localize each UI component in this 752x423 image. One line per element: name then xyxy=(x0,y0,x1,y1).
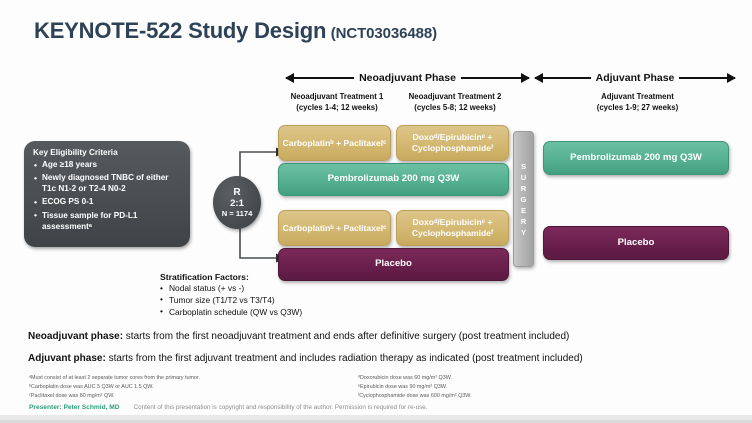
box-label: Carboplatinᵇ + Paclitaxelᶜ xyxy=(283,223,387,234)
caption-neoadjuvant-treatment-2: Neoadjuvant Treatment 2 (cycles 5-8; 12 … xyxy=(396,92,514,113)
footnote-item: ᶠCyclophosphamide dose was 600 mg/m² Q3W… xyxy=(358,392,688,401)
description-value: starts from the first adjuvant treatment… xyxy=(106,353,583,364)
box-label: Pembrolizumab 200 mg Q3W xyxy=(570,152,702,164)
arrow-line-right xyxy=(461,77,529,79)
list-item: Age ≥18 years xyxy=(33,160,182,171)
arrow-line-right xyxy=(679,77,735,79)
list-item: Carboplatin schedule (QW vs Q3W) xyxy=(160,307,302,319)
control-arm-placebo-adjuvant-box: Placebo xyxy=(543,226,729,260)
phase-arrow-row: Neoadjuvant Phase Adjuvant Phase xyxy=(0,70,752,86)
randomization-ratio: 2:1 xyxy=(230,198,244,209)
exp-arm-neoadjuvant-treatment-1-box: Carboplatinᵇ + Paclitaxelᶜ xyxy=(278,125,391,161)
copyright-notice: Content of this presentation is copyrigh… xyxy=(134,404,428,411)
caption-line-1: Adjuvant Treatment xyxy=(545,92,730,103)
arrow-line-left xyxy=(286,77,354,79)
caption-line-1: Neoadjuvant Treatment 2 xyxy=(396,92,514,103)
surgery-letter: Y xyxy=(521,227,526,238)
box-label: Doxoᵈ/Epirubicinᵉ + Cyclophosphamideᶠ xyxy=(397,217,508,239)
eligibility-item-text: Tissue sample for PD-L1 assessmentᵃ xyxy=(42,211,137,231)
description-key: Neoadjuvant phase: xyxy=(28,331,123,342)
caption-neoadjuvant-treatment-1: Neoadjuvant Treatment 1 (cycles 1-4; 12 … xyxy=(278,92,396,113)
arrow-line-left xyxy=(535,77,591,79)
list-item: Tumor size (T1/T2 vs T3/T4) xyxy=(160,295,302,307)
box-label: Carboplatinᵇ + Paclitaxelᶜ xyxy=(283,138,387,149)
caption-adjuvant-treatment: Adjuvant Treatment (cycles 1-9; 27 weeks… xyxy=(545,92,730,113)
surgery-column: S U R G E R Y xyxy=(513,131,534,267)
control-arm-neoadjuvant-treatment-2-box: Doxoᵈ/Epirubicinᵉ + Cyclophosphamideᶠ xyxy=(396,210,509,246)
description-key: Adjuvant phase: xyxy=(28,353,106,364)
exp-arm-neoadjuvant-treatment-2-box: Doxoᵈ/Epirubicinᵉ + Cyclophosphamideᶠ xyxy=(396,125,509,161)
surgery-letter: R xyxy=(521,216,526,227)
presenter-bar: Presenter: Peter Schmid, MD Content of t… xyxy=(29,404,428,411)
box-label: Pembrolizumab 200 mg Q3W xyxy=(328,173,460,185)
randomization-n: N = 1174 xyxy=(222,210,253,219)
footnotes-right-column: ᵈDoxorubicin dose was 60 mg/m² Q3W. ᵉEpi… xyxy=(358,374,688,400)
control-arm-neoadjuvant-treatment-1-box: Carboplatinᵇ + Paclitaxelᶜ xyxy=(278,210,391,246)
eligibility-list: Age ≥18 years Newly diagnosed TNBC of ei… xyxy=(33,160,182,232)
stratification-item-text: Nodal status (+ vs -) xyxy=(169,283,244,293)
eligibility-title: Key Eligibility Criteria xyxy=(33,148,182,157)
footnote-item: ᵉEpirubicin dose was 90 mg/m² Q3W. xyxy=(358,383,688,392)
adjuvant-phase-arrow: Adjuvant Phase xyxy=(535,70,735,86)
key-eligibility-criteria-panel: Key Eligibility Criteria Age ≥18 years N… xyxy=(24,141,190,247)
box-label: Placebo xyxy=(375,258,412,270)
surgery-letter: G xyxy=(521,194,527,205)
stratification-title: Stratification Factors: xyxy=(160,272,302,282)
neoadjuvant-phase-label: Neoadjuvant Phase xyxy=(354,72,461,84)
adjuvant-phase-description: Adjuvant phase: starts from the first ad… xyxy=(28,348,728,366)
caption-line-2: (cycles 1-9; 27 weeks) xyxy=(545,103,730,114)
title-trial-id: (NCT03036488) xyxy=(331,25,437,42)
list-item: Newly diagnosed TNBC of either T1c N1-2 … xyxy=(33,173,182,195)
exp-arm-pembrolizumab-neoadjuvant-box: Pembrolizumab 200 mg Q3W xyxy=(278,163,509,196)
description-value: starts from the first neoadjuvant treatm… xyxy=(123,331,569,342)
stratification-item-text: Carboplatin schedule (QW vs Q3W) xyxy=(169,307,302,317)
surgery-letter: U xyxy=(521,172,526,183)
stratification-item-text: Tumor size (T1/T2 vs T3/T4) xyxy=(169,295,275,305)
randomization-node: R 2:1 N = 1174 xyxy=(213,176,261,229)
list-item: Tissue sample for PD-L1 assessmentᵃ xyxy=(33,211,182,233)
title-main-text: KEYNOTE-522 Study Design xyxy=(34,18,326,43)
footnote-item: ᵈDoxorubicin dose was 60 mg/m² Q3W. xyxy=(358,374,688,383)
footnotes-left-column: ᵃMust consist of at least 2 separate tum… xyxy=(29,374,349,400)
list-item: Nodal status (+ vs -) xyxy=(160,283,302,295)
eligibility-item-text: Age ≥18 years xyxy=(42,160,97,169)
stratification-factors-block: Stratification Factors: Nodal status (+ … xyxy=(160,272,302,318)
caption-line-2: (cycles 5-8; 12 weeks) xyxy=(396,103,514,114)
list-item: ECOG PS 0-1 xyxy=(33,197,182,208)
footnote-item: ᵃMust consist of at least 2 separate tum… xyxy=(29,374,349,383)
caption-line-1: Neoadjuvant Treatment 1 xyxy=(278,92,396,103)
eligibility-item-text: Newly diagnosed TNBC of either T1c N1-2 … xyxy=(42,173,168,193)
surgery-letter: S xyxy=(521,161,526,172)
surgery-letter: E xyxy=(521,205,526,216)
footnote-item: ᶜPaclitaxel dose was 80 mg/m² QW. xyxy=(29,392,349,401)
slide-canvas: KEYNOTE-522 Study Design (NCT03036488) N… xyxy=(0,0,752,423)
presenter-name: Presenter: Peter Schmid, MD xyxy=(29,404,120,411)
page-title: KEYNOTE-522 Study Design (NCT03036488) xyxy=(34,18,437,44)
stratification-list: Nodal status (+ vs -) Tumor size (T1/T2 … xyxy=(160,283,302,318)
footnote-item: ᵇCarboplatin dose was AUC 5 Q3W or AUC 1… xyxy=(29,383,349,392)
box-label: Doxoᵈ/Epirubicinᵉ + Cyclophosphamideᶠ xyxy=(397,132,508,154)
control-arm-placebo-neoadjuvant-box: Placebo xyxy=(278,248,509,281)
randomization-letter: R xyxy=(233,187,240,199)
eligibility-item-text: ECOG PS 0-1 xyxy=(42,197,93,206)
caption-line-2: (cycles 1-4; 12 weeks) xyxy=(278,103,396,114)
adjuvant-phase-label: Adjuvant Phase xyxy=(591,72,680,84)
surgery-letter: R xyxy=(521,183,526,194)
neoadjuvant-phase-description: Neoadjuvant phase: starts from the first… xyxy=(28,326,728,344)
box-label: Placebo xyxy=(618,237,655,249)
neoadjuvant-phase-arrow: Neoadjuvant Phase xyxy=(286,70,529,86)
exp-arm-pembrolizumab-adjuvant-box: Pembrolizumab 200 mg Q3W xyxy=(543,141,729,175)
